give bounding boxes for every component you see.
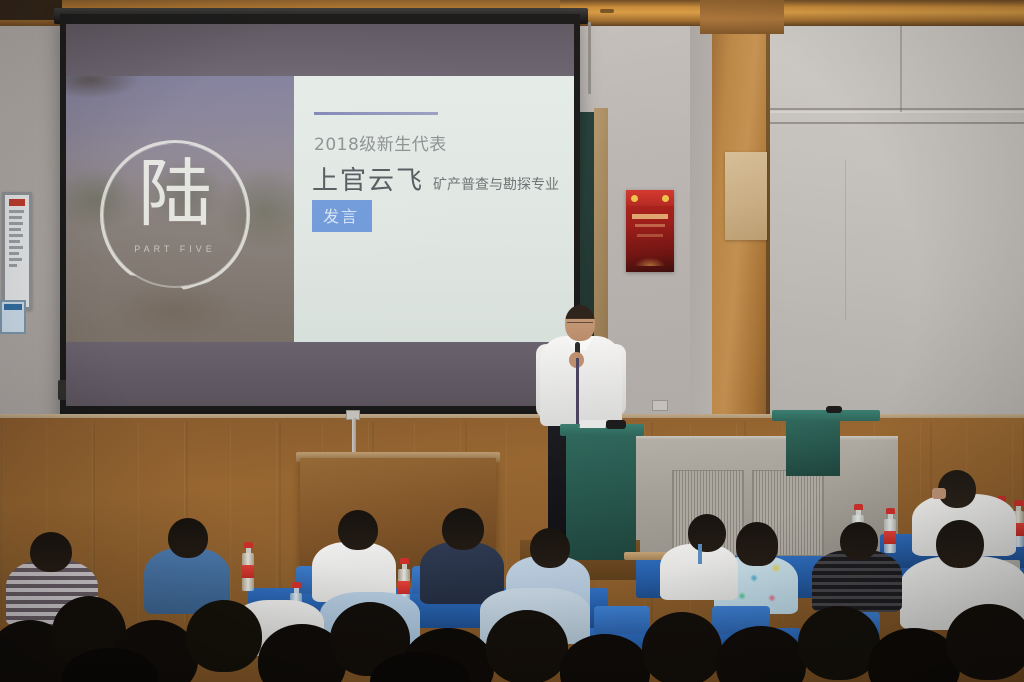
ceiling-shadow-corner bbox=[0, 0, 62, 20]
slide-name-row: 上官云飞 矿产普查与勘探专业 bbox=[312, 160, 559, 197]
secondary-podium-object bbox=[826, 406, 842, 413]
right-wall bbox=[748, 0, 1024, 470]
podium-mic-base bbox=[606, 420, 626, 429]
poster-seal-right bbox=[662, 195, 669, 202]
slide-speaker-major: 矿产普查与勘探专业 bbox=[433, 174, 559, 197]
screen-lower-letterbox bbox=[66, 342, 574, 406]
wall-notice-lower bbox=[0, 300, 26, 334]
logo-chapter-latin: PART FIVE bbox=[100, 244, 250, 254]
wall-outlet-center bbox=[652, 400, 668, 411]
poster-seal-left bbox=[631, 195, 638, 202]
screen-cable bbox=[588, 22, 591, 94]
red-event-poster bbox=[626, 190, 674, 272]
projection-screen-surface: 陆 PART FIVE 2018级新生代表 上官云飞 矿产普查与勘探专业 发言 bbox=[66, 24, 574, 406]
slide-photo-canopy bbox=[66, 76, 186, 110]
foreground-head bbox=[486, 610, 568, 682]
wall-notice-upper bbox=[2, 192, 32, 310]
pillar-capital bbox=[700, 0, 784, 34]
water-bottle bbox=[884, 508, 896, 553]
poster-caption-text bbox=[637, 234, 663, 237]
foreground-head bbox=[642, 612, 722, 682]
poster-artwork-glow bbox=[630, 246, 670, 266]
notice-body-lines bbox=[9, 210, 25, 303]
screen-upper-letterbox bbox=[66, 24, 574, 76]
presentation-slide: 陆 PART FIVE 2018级新生代表 上官云飞 矿产普查与勘探专业 发言 bbox=[66, 76, 574, 342]
speaker-glasses bbox=[567, 322, 593, 326]
pillar-beige-panel bbox=[725, 152, 767, 240]
ceiling-beam-lit bbox=[560, 0, 1024, 26]
wall-recess bbox=[690, 20, 714, 470]
slide-eyebrow-text: 2018级新生代表 bbox=[314, 130, 447, 155]
water-bottle bbox=[242, 542, 254, 591]
lecture-hall-photo: 陆 PART FIVE 2018级新生代表 上官云飞 矿产普查与勘探专业 发言 bbox=[0, 0, 1024, 682]
slide-section-logo: 陆 PART FIVE bbox=[100, 140, 250, 290]
teal-podium bbox=[566, 432, 636, 560]
slide-divider-rule bbox=[314, 112, 438, 115]
right-wall-conduit-upper bbox=[748, 108, 1024, 110]
slide-photo-panel: 陆 PART FIVE bbox=[66, 76, 294, 342]
logo-chapter-character: 陆 bbox=[100, 158, 250, 232]
notice-header-band bbox=[9, 199, 25, 206]
microphone-cable bbox=[576, 358, 579, 424]
right-wall-hairline bbox=[845, 160, 846, 320]
slide-role-badge: 发言 bbox=[312, 200, 372, 232]
foreground-head bbox=[186, 600, 262, 672]
foreground-head bbox=[946, 604, 1024, 680]
poster-title-text bbox=[632, 214, 668, 219]
beam-fastener bbox=[600, 9, 614, 13]
secondary-teal-podium bbox=[786, 418, 840, 476]
notice-blue-header bbox=[4, 304, 22, 310]
podium-speech-notes bbox=[580, 420, 607, 428]
seat-back bbox=[594, 606, 650, 634]
slide-speaker-name: 上官云飞 bbox=[312, 160, 424, 197]
right-wall-conduit-lower bbox=[748, 122, 1024, 124]
poster-subtitle-text bbox=[635, 224, 665, 227]
